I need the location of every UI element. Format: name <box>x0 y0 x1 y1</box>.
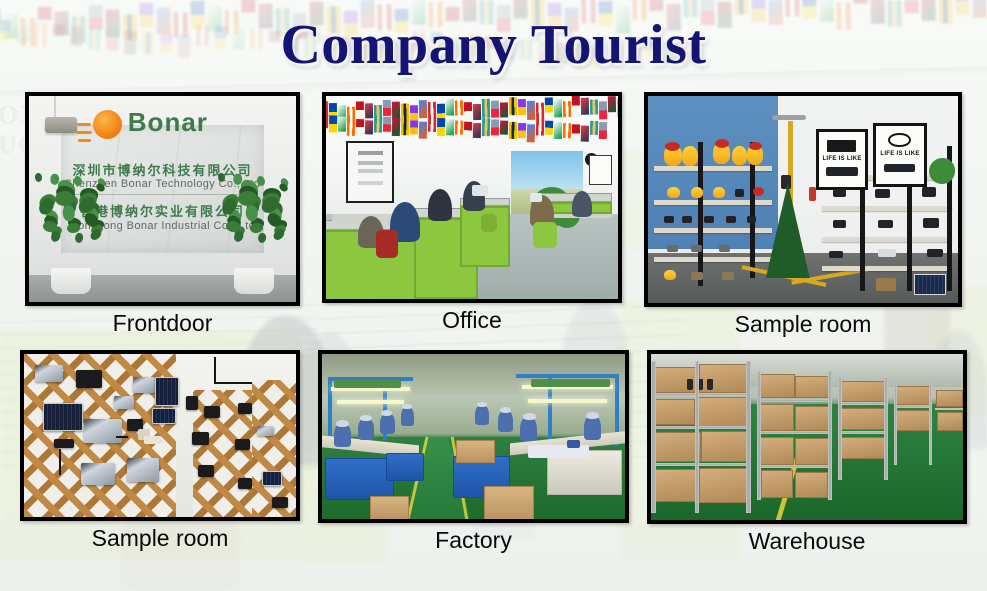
poster-text: LIFE IS LIKE <box>876 151 924 158</box>
storage-rack <box>935 386 963 456</box>
photo-warehouse <box>651 354 963 520</box>
lamp-wire <box>54 96 56 117</box>
solar-flood-light <box>257 426 274 436</box>
photo-office <box>326 96 618 299</box>
photo-caption: Factory <box>435 526 512 554</box>
wall-lamp <box>45 117 77 133</box>
photo-frame-warehouse[interactable] <box>647 350 967 524</box>
solar-flood-light <box>127 458 159 482</box>
solar-flood-light <box>114 396 134 409</box>
solar-panel <box>43 403 83 431</box>
plant-pot <box>51 268 91 294</box>
photo-caption: Office <box>442 306 502 334</box>
framed-poster: LIFE IS LIKE <box>873 123 927 187</box>
photo-caption: Frontdoor <box>113 309 213 337</box>
wall-certificate-small <box>589 155 612 185</box>
solar-flood-light <box>133 377 155 393</box>
solar-panel <box>152 408 176 424</box>
page-title: Company Tourist <box>0 14 987 76</box>
gallery-cell-frontdoor[interactable]: Bonar 深圳市博纳尔科技有限公司 Shenzhen Bonar Techno… <box>25 92 300 338</box>
photo-frame-factory[interactable] <box>318 350 629 523</box>
plant-pot <box>234 268 274 294</box>
office-chair <box>533 222 557 248</box>
potted-plant-right <box>217 174 291 293</box>
office-chair <box>481 214 497 232</box>
storage-rack <box>838 377 888 480</box>
office-worker <box>428 189 452 221</box>
storage-rack <box>757 371 832 500</box>
photo-factory <box>322 354 625 519</box>
photo-frame-sample-room-2[interactable] <box>20 350 300 521</box>
lattice-panel-far-right <box>252 380 296 517</box>
solar-flood-light <box>54 439 74 448</box>
photo-frame-frontdoor[interactable]: Bonar 深圳市博纳尔科技有限公司 Shenzhen Bonar Techno… <box>25 92 300 306</box>
solar-flood-light <box>238 478 252 489</box>
gallery-row: Bonar 深圳市博纳尔科技有限公司 Shenzhen Bonar Techno… <box>0 92 987 338</box>
solar-flood-light <box>35 365 63 382</box>
showroom-blue-wall <box>648 96 778 249</box>
solar-flood-light <box>198 465 214 477</box>
photo-caption: Warehouse <box>749 527 866 555</box>
company-tourist-banner: OXUGH Company Tourist <box>0 0 987 591</box>
brand-wordmark: Bonar <box>128 107 208 138</box>
gallery-cell-sample-room-1[interactable]: LIFE IS LIKE LIFE IS LIKE <box>644 92 962 338</box>
solar-flood-light <box>81 463 115 485</box>
solar-flood-light <box>84 419 122 443</box>
photo-caption: Sample room <box>735 310 872 338</box>
potted-plant-left <box>34 174 108 293</box>
gallery-cell-factory[interactable]: Factory <box>318 350 629 555</box>
photo-gallery: Bonar 深圳市博纳尔科技有限公司 Shenzhen Bonar Techno… <box>0 92 987 555</box>
wall-certificate <box>346 141 394 203</box>
storage-rack <box>651 361 751 514</box>
poster-text: LIFE IS LIKE <box>819 156 865 163</box>
office-worker <box>572 191 592 217</box>
photo-sample-room-2 <box>24 354 296 517</box>
photo-frame-office[interactable] <box>322 92 622 303</box>
solar-flood-light <box>192 432 209 445</box>
solar-flood-light <box>238 403 252 414</box>
gallery-cell-office[interactable]: Office <box>322 92 622 338</box>
storage-rack <box>894 382 931 465</box>
solar-flood-light <box>76 370 102 388</box>
wall-lantern <box>186 396 198 410</box>
solar-panel <box>155 377 179 406</box>
gallery-cell-warehouse[interactable]: Warehouse <box>647 350 967 555</box>
solar-flood-light <box>235 439 250 450</box>
solar-panel <box>914 274 946 295</box>
gallery-row: Sample room <box>0 350 987 555</box>
photo-frame-sample-room-1[interactable]: LIFE IS LIKE LIFE IS LIKE <box>644 92 962 307</box>
photo-caption: Sample room <box>92 524 229 552</box>
framed-poster: LIFE IS LIKE <box>816 129 868 190</box>
solar-flood-light <box>272 497 288 508</box>
gallery-cell-sample-room-2[interactable]: Sample room <box>20 350 300 555</box>
office-chair <box>376 230 398 258</box>
photo-sample-room-1: LIFE IS LIKE LIFE IS LIKE <box>648 96 958 303</box>
office-window <box>511 151 583 191</box>
solar-flood-light <box>204 406 220 418</box>
photo-frontdoor: Bonar 深圳市博纳尔科技有限公司 Shenzhen Bonar Techno… <box>29 96 296 302</box>
solar-panel <box>262 471 282 486</box>
